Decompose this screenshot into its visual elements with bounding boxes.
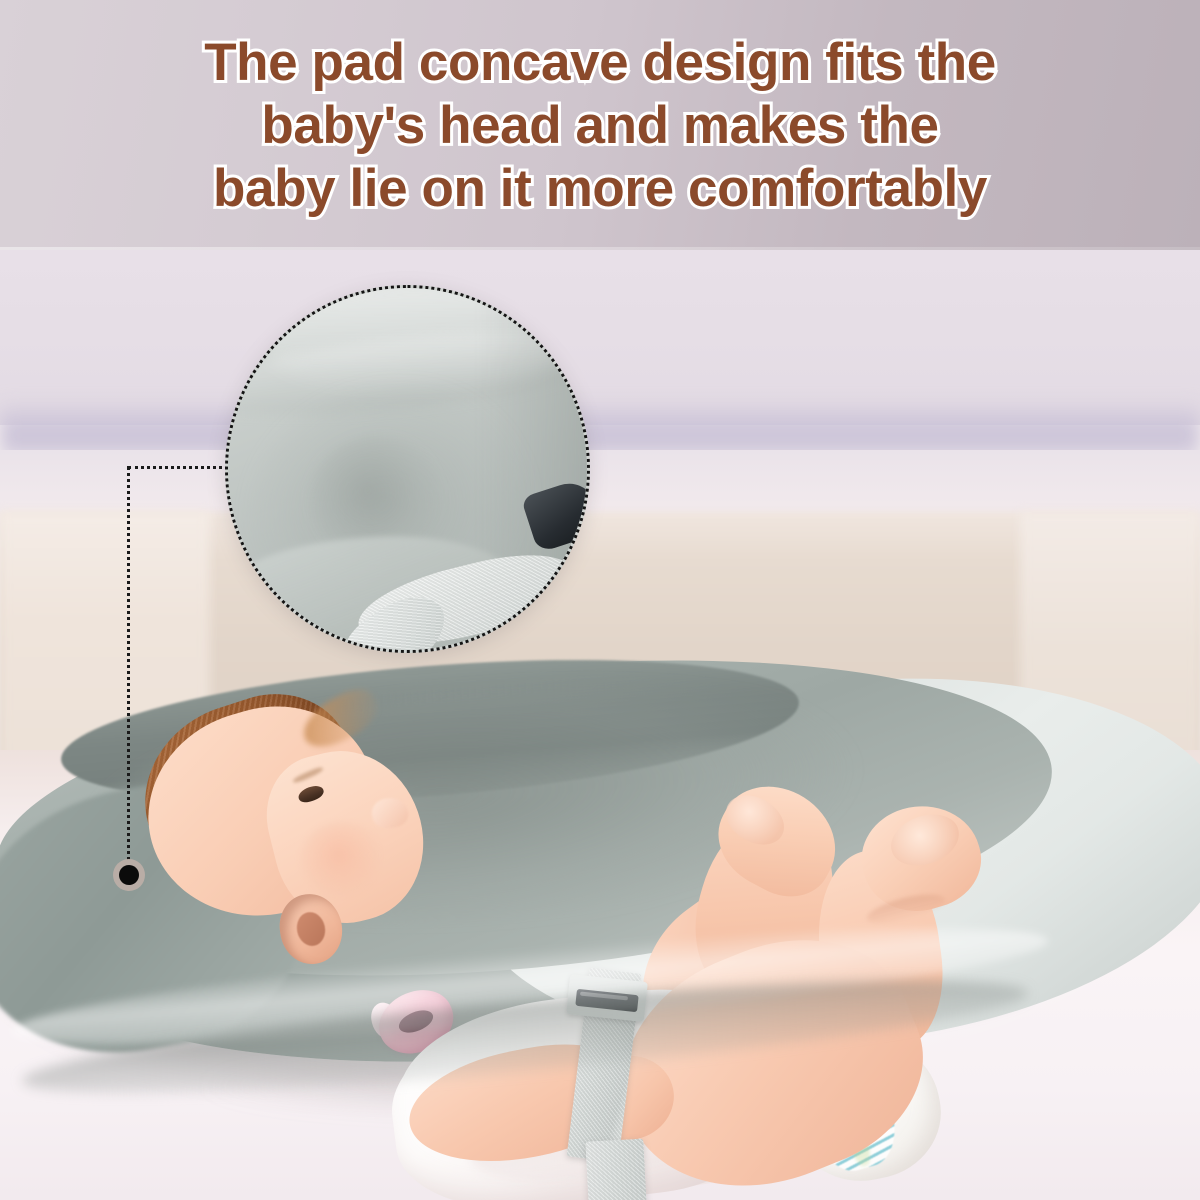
callout-anchor-point: [113, 859, 145, 891]
callout-anchor-dot: [119, 865, 139, 885]
magnifier-inset-circle: [225, 285, 590, 653]
headline-banner: The pad concave design fits the baby's h…: [0, 0, 1200, 250]
headline-line-1: The pad concave design fits the: [204, 31, 996, 94]
product-infographic-canvas: The pad concave design fits the baby's h…: [0, 0, 1200, 1200]
headline-line-2: baby's head and makes the: [261, 94, 938, 157]
headline-line-3: baby lie on it more comfortably: [213, 157, 987, 220]
callout-line-vertical: [127, 466, 130, 874]
callout-line-horizontal: [128, 466, 240, 469]
